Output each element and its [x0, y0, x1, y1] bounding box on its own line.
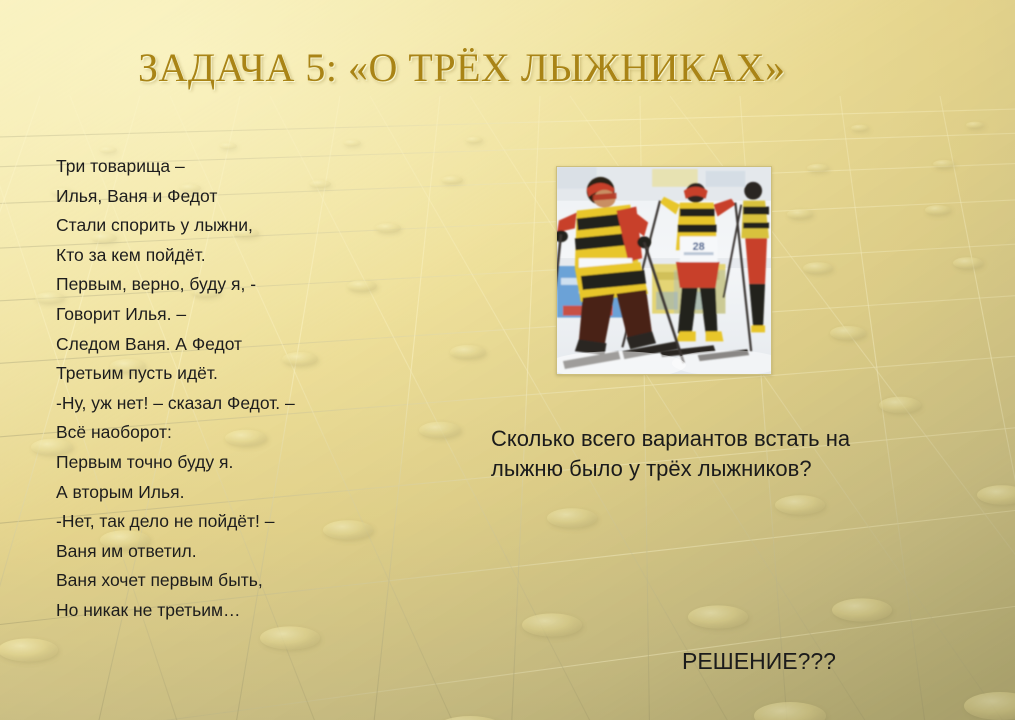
poem-line: Первым, верно, буду я, - — [56, 270, 396, 300]
poem-block: Три товарища – Илья, Ваня и Федот Стали … — [56, 152, 396, 626]
page-title: ЗАДАЧА 5: «О ТРЁХ ЛЫЖНИКАХ» — [138, 44, 785, 91]
poem-line: -Нет, так дело не пойдёт! – — [56, 507, 396, 537]
slide-canvas: ЗАДАЧА 5: «О ТРЁХ ЛЫЖНИКАХ» Три товарища… — [0, 0, 1015, 720]
poem-line: Следом Ваня. А Федот — [56, 330, 396, 360]
poem-line: Три товарища – — [56, 152, 396, 182]
poem-line: Третьим пусть идёт. — [56, 359, 396, 389]
poem-line: Илья, Ваня и Федот — [56, 182, 396, 212]
poem-line: Говорит Илья. – — [56, 300, 396, 330]
poem-line: Ваня хочет первым быть, — [56, 566, 396, 596]
question-line: Сколько всего вариантов встать на — [491, 424, 891, 454]
poem-line: Стали спорить у лыжни, — [56, 211, 396, 241]
skiers-photo: 28 — [556, 166, 772, 375]
question-line: лыжню было у трёх лыжников? — [491, 454, 891, 484]
poem-line: Кто за кем пойдёт. — [56, 241, 396, 271]
poem-line: А вторым Илья. — [56, 478, 396, 508]
poem-line: Всё наоборот: — [56, 418, 396, 448]
question-block: Сколько всего вариантов встать на лыжню … — [491, 424, 891, 484]
svg-text:28: 28 — [693, 241, 705, 253]
poem-line: Ваня им ответил. — [56, 537, 396, 567]
poem-line: Но никак не третьим… — [56, 596, 396, 626]
poem-line: Первым точно буду я. — [56, 448, 396, 478]
poem-line: -Ну, уж нет! – сказал Федот. – — [56, 389, 396, 419]
solution-label: РЕШЕНИЕ??? — [682, 648, 836, 675]
